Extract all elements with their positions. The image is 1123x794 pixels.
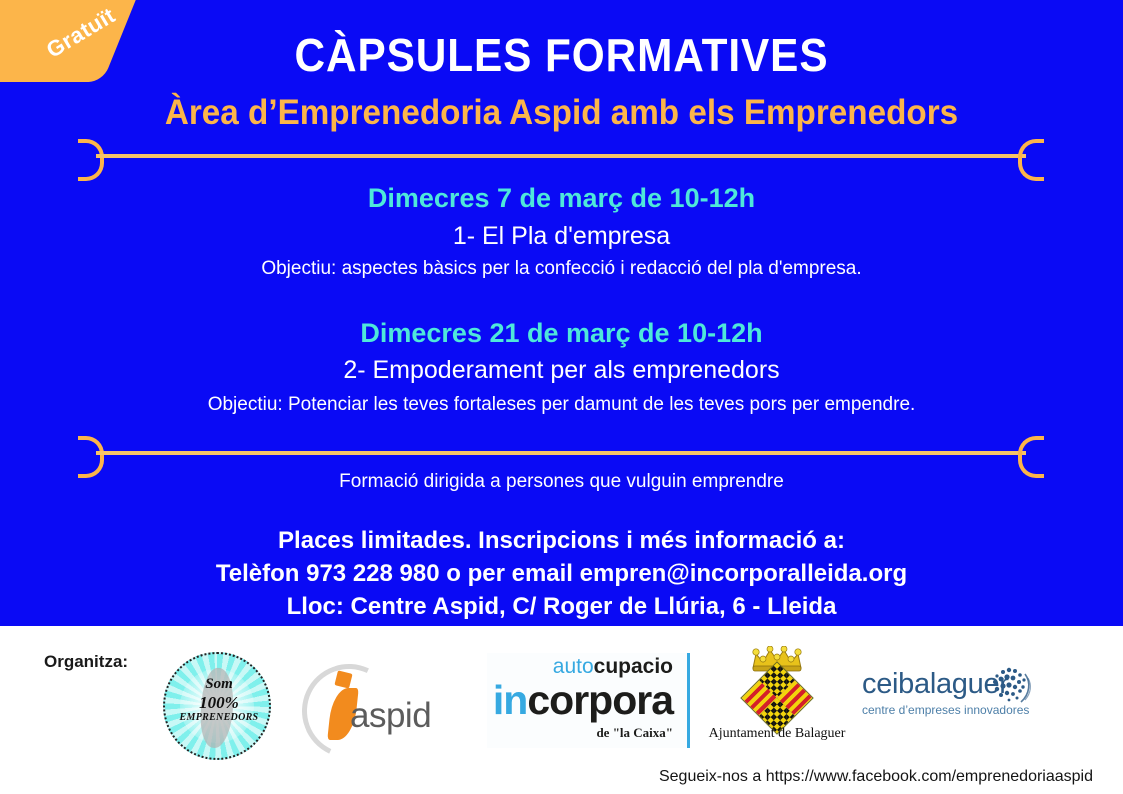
session-2-date: Dimecres 21 de març de 10-12h xyxy=(0,318,1123,349)
incorpora-in-prefix: in xyxy=(493,677,527,723)
session-2-objective: Objectiu: Potenciar les teves fortaleses… xyxy=(0,394,1123,416)
incorpora-auto-prefix: auto xyxy=(553,655,594,678)
contact-line-location: Lloc: Centre Aspid, C/ Roger de Llúria, … xyxy=(0,593,1123,621)
som-text-block: Som 100% EMPRENEDORS xyxy=(165,676,271,723)
session-1-title: 1- El Pla d'empresa xyxy=(0,222,1123,251)
divider-left-paren-icon xyxy=(78,139,104,181)
social-follow-line[interactable]: Segueix-nos a https://www.facebook.com/e… xyxy=(0,768,1093,786)
session-2-title: 2- Empoderament per als emprenedors xyxy=(0,356,1123,385)
som-line-2: 100% xyxy=(165,693,271,712)
divider-bar xyxy=(96,154,1026,158)
session-1-objective: Objectiu: aspectes bàsics per la confecc… xyxy=(0,258,1123,280)
divider-bar xyxy=(96,451,1026,455)
logo-ceibalaguer: ceibalaguer centre d’empreses innovadore… xyxy=(862,668,1037,730)
logo-ajuntament-balaguer: Ajuntament de Balaguer xyxy=(712,646,842,746)
main-blue-panel: Gratuït CÀPSULES FORMATIVES Àrea d’Empre… xyxy=(0,0,1123,626)
incorpora-line-incorpora: incorpora xyxy=(487,677,673,724)
incorpora-in-suffix: corpora xyxy=(527,677,673,723)
divider-top xyxy=(78,139,1044,173)
incorpora-line-autocupacio: autocupacio xyxy=(487,655,673,679)
divider-middle xyxy=(78,436,1044,470)
divider-right-paren-icon xyxy=(1018,139,1044,181)
poster-title: CÀPSULES FORMATIVES xyxy=(45,28,1078,82)
session-1-date: Dimecres 7 de març de 10-12h xyxy=(0,183,1123,214)
contact-line-phone-email: Telèfon 973 228 980 o per email empren@i… xyxy=(0,560,1123,588)
balaguer-name: Ajuntament de Balaguer xyxy=(706,726,848,742)
logo-incorpora: autocupacio incorpora de "la Caixa" xyxy=(487,653,690,748)
poster-root: Gratuït CÀPSULES FORMATIVES Àrea d’Empre… xyxy=(0,0,1123,794)
som-line-3: EMPRENEDORS xyxy=(165,712,271,723)
balaguer-shield-icon xyxy=(740,661,814,735)
audience-note: Formació dirigida a persones que vulguin… xyxy=(0,471,1123,493)
contact-line-registration: Places limitades. Inscripcions i més inf… xyxy=(0,527,1123,555)
organizer-label: Organitza: xyxy=(44,652,128,672)
logo-aspid: aspid xyxy=(300,660,450,752)
poster-subtitle: Àrea d’Emprenedoria Aspid amb els Empren… xyxy=(28,93,1095,133)
ceibalaguer-globe-icon xyxy=(985,662,1033,706)
logo-som-100-emprenedors: Som 100% EMPRENEDORS xyxy=(163,652,271,760)
som-line-1: Som xyxy=(165,676,271,693)
incorpora-caixa-line: de "la Caixa" xyxy=(487,725,673,741)
aspid-wordmark: aspid xyxy=(350,696,431,736)
incorpora-auto-suffix: cupacio xyxy=(594,655,673,678)
